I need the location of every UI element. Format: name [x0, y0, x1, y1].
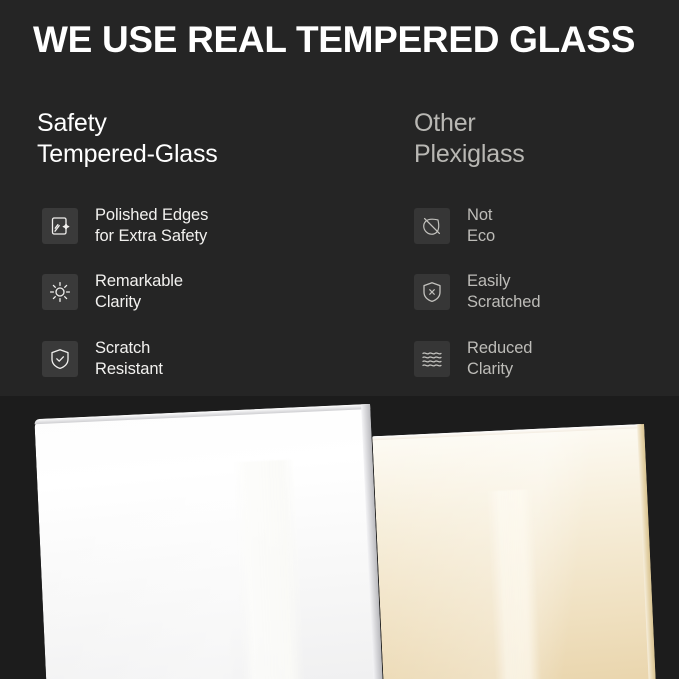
- feature-label: Scratch Resistant: [95, 338, 163, 380]
- feature-label: Remarkable Clarity: [95, 271, 183, 313]
- plexi-top-edge: [372, 424, 644, 440]
- tempered-glass-panel: [34, 404, 383, 679]
- feature-row: Remarkable Clarity: [42, 271, 183, 313]
- wavy-lines-blur-icon: [414, 341, 450, 377]
- column-tempered-glass: Safety Tempered-Glass: [37, 108, 377, 170]
- page-title: WE USE REAL TEMPERED GLASS: [33, 18, 653, 62]
- feature-row: Easily Scratched: [414, 271, 540, 313]
- product-photo: [0, 396, 679, 679]
- sun-clarity-icon: [42, 274, 78, 310]
- plexi-reflection: [487, 489, 543, 679]
- shield-x-icon: [414, 274, 450, 310]
- plexi-right-edge: [637, 424, 656, 679]
- feature-label: Reduced Clarity: [467, 338, 532, 380]
- feature-label: Easily Scratched: [467, 271, 540, 313]
- column-plexiglass: Other Plexiglass: [414, 108, 679, 170]
- polished-edge-sparkle-icon: [42, 208, 78, 244]
- leaf-slash-not-eco-icon: [414, 208, 450, 244]
- feature-label: Polished Edges for Extra Safety: [95, 205, 208, 247]
- glass-reflection: [233, 459, 306, 679]
- shield-check-icon: [42, 341, 78, 377]
- comparison-infographic: WE USE REAL TEMPERED GLASS Safety Temper…: [0, 0, 679, 679]
- feature-row: Not Eco: [414, 205, 495, 247]
- column-heading-right: Other Plexiglass: [414, 108, 679, 170]
- feature-row: Polished Edges for Extra Safety: [42, 205, 208, 247]
- column-heading-left: Safety Tempered-Glass: [37, 108, 377, 170]
- feature-row: Reduced Clarity: [414, 338, 532, 380]
- plexiglass-panel: [372, 424, 656, 679]
- feature-label: Not Eco: [467, 205, 495, 247]
- glass-top-edge: [34, 404, 370, 424]
- feature-row: Scratch Resistant: [42, 338, 163, 380]
